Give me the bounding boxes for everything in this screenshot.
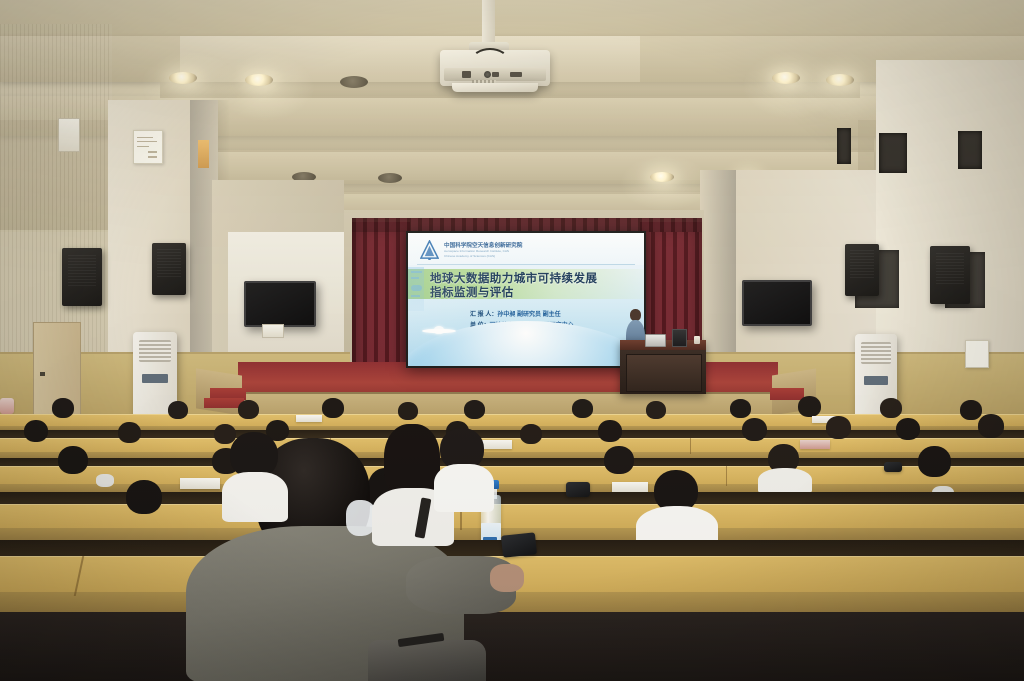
head	[880, 398, 902, 418]
wall-speaker-right-outer	[930, 246, 970, 304]
wall-amber-strip-left	[198, 140, 209, 168]
wall-speaker-left-inner	[152, 243, 186, 295]
slide-meta-row-0: 汇 报 人：孙中昶 副研究员 副主任	[470, 309, 561, 318]
presenter-laptop	[645, 334, 666, 347]
audience-r2-p8	[742, 418, 767, 441]
projector-cable	[471, 48, 509, 74]
slide-accent-bar-3	[411, 285, 422, 291]
smartphone-in-hand[interactable]	[501, 532, 537, 557]
wall-box-left	[58, 118, 80, 152]
presentation-slide: 中国科学院空天信息创新研究院 Aerospace Information Res…	[408, 233, 644, 366]
wall-monitor-left	[244, 281, 316, 327]
ceiling-light-1	[169, 72, 197, 84]
slide-institution-en2: Chinese Academy of Sciences (CAS)	[444, 254, 495, 258]
slide-header-rule	[417, 264, 634, 265]
audience-r3-p5-torso	[758, 468, 812, 494]
podium-monitor	[672, 329, 687, 347]
audience-r1-p9	[730, 399, 751, 418]
ceiling-light-2	[245, 74, 273, 86]
audience-r4-p1	[126, 480, 162, 514]
projector-port-3	[510, 72, 522, 77]
audience-r3-p6	[918, 446, 951, 477]
audience-r2-p9	[826, 416, 851, 439]
slide-title-line2: 指标监测与评估	[430, 284, 514, 300]
wall-notice-sign	[133, 130, 163, 164]
slide-institution-cn: 中国科学院空天信息创新研究院	[444, 241, 522, 249]
sign-line-2	[137, 141, 157, 142]
ceiling-light-7-off	[378, 173, 402, 183]
projection-screen: 中国科学院空天信息创新研究院 Aerospace Information Res…	[406, 231, 646, 368]
audience-r1-p2	[168, 401, 188, 419]
audience-r1-p8	[646, 401, 666, 419]
ceiling-light-3-off	[340, 76, 368, 88]
foreground-hand	[490, 564, 524, 592]
torso	[222, 472, 288, 522]
wall-vent-right-2	[879, 133, 907, 173]
audience-r1-p3	[238, 400, 259, 419]
head	[24, 420, 48, 442]
audience-r1-p10	[798, 396, 821, 417]
sign-line-4	[148, 151, 157, 153]
floor-under-desks	[0, 612, 1024, 681]
wall-monitor-left-bracket	[262, 324, 284, 338]
head	[520, 424, 542, 444]
cas-triangle-logo-icon	[420, 240, 439, 260]
audience-r1-p6	[464, 400, 485, 419]
ceiling-light-4	[772, 72, 800, 84]
slide-accent-bar-2	[411, 277, 419, 279]
slide-meta-value-0: 孙中昶 副研究员 副主任	[497, 312, 560, 318]
audience-r1-p4	[322, 398, 344, 418]
head	[798, 396, 821, 417]
audience-mid-right	[434, 428, 494, 518]
head	[118, 422, 141, 443]
slide-meta-label-0: 汇 报 人：	[470, 312, 497, 318]
wall-vent-right-3	[958, 131, 982, 169]
wall-monitor-right	[742, 280, 812, 326]
slide-accent-bar-4	[411, 295, 420, 297]
audience-r2-p7	[598, 420, 622, 442]
head	[598, 420, 622, 442]
head	[58, 446, 88, 474]
head	[126, 480, 162, 514]
audience-r2-p6	[520, 424, 542, 444]
head	[398, 402, 418, 420]
desk-row-2-seam-b	[690, 438, 691, 454]
head	[168, 401, 188, 419]
wall-speaker-left-outer	[62, 248, 102, 306]
projector-lower-shell	[452, 83, 538, 92]
ceiling-top-slab	[0, 0, 1024, 40]
ac-right-grill	[861, 342, 891, 364]
backpack	[368, 640, 486, 681]
handout-paper-right	[612, 482, 648, 492]
airplane-wing	[434, 326, 444, 334]
ceiling-recess-2	[150, 136, 874, 152]
lectern-podium	[620, 340, 706, 394]
head	[918, 446, 951, 477]
smartphone-on-desk-center[interactable]	[566, 482, 590, 497]
head	[464, 400, 485, 419]
ceiling-light-8	[650, 172, 674, 182]
ac-right-badge	[864, 376, 888, 385]
sign-line-5	[148, 156, 157, 158]
podium-cup	[694, 336, 700, 344]
face-mask-r3-p1	[96, 474, 114, 487]
exit-placard-right	[965, 340, 989, 368]
sign-line-3	[137, 146, 149, 147]
ac-left-badge	[142, 374, 168, 383]
head	[384, 424, 440, 498]
projector-port-1	[462, 71, 471, 78]
lecture-hall-photo: 中国科学院空天信息创新研究院 Aerospace Information Res…	[0, 0, 1024, 681]
stage-left-red-object	[0, 398, 14, 414]
audience-r2-p1	[24, 420, 48, 442]
head	[742, 418, 767, 441]
stage-valance-top	[352, 218, 702, 232]
audience-r3-p4	[604, 446, 634, 474]
audience-r2-p2	[118, 422, 141, 443]
head	[896, 418, 920, 440]
head	[646, 401, 666, 419]
ceiling-light-5	[826, 74, 854, 86]
handout-paper-center	[800, 440, 830, 449]
sign-line-1	[137, 137, 153, 138]
head	[238, 400, 259, 419]
head	[52, 398, 74, 418]
audience-r1-p1	[52, 398, 74, 418]
slide-institution-en: Aerospace Information Research Institute…	[444, 249, 509, 253]
audience-r2-p10	[896, 418, 920, 440]
side-door-left-handle	[40, 372, 45, 376]
audience-mid-left	[222, 432, 288, 528]
head	[978, 414, 1004, 438]
desk-row-3-seam-b	[726, 466, 727, 486]
smartphone-on-desk-right[interactable]	[884, 462, 902, 472]
ac-left-grill	[139, 340, 171, 362]
slide-accent-sidebar	[408, 267, 424, 311]
head	[730, 399, 751, 418]
wall-speaker-right-inner	[845, 244, 879, 296]
podium-front-panel	[626, 354, 702, 392]
audience-r1-p7	[572, 399, 593, 418]
audience-r3-p1	[58, 446, 88, 474]
audience-r2-p11	[978, 414, 1004, 438]
handout-paper-far-left	[296, 415, 322, 422]
head	[322, 398, 344, 418]
slide-accent-bar-1	[411, 271, 422, 273]
audience-r1-p11	[880, 398, 902, 418]
head	[572, 399, 593, 418]
wall-vent-right-1	[837, 128, 851, 164]
audience-r1-p5	[398, 402, 418, 420]
torso	[434, 464, 494, 512]
projector-mount-pole	[482, 0, 495, 48]
head	[826, 416, 851, 439]
head	[604, 446, 634, 474]
